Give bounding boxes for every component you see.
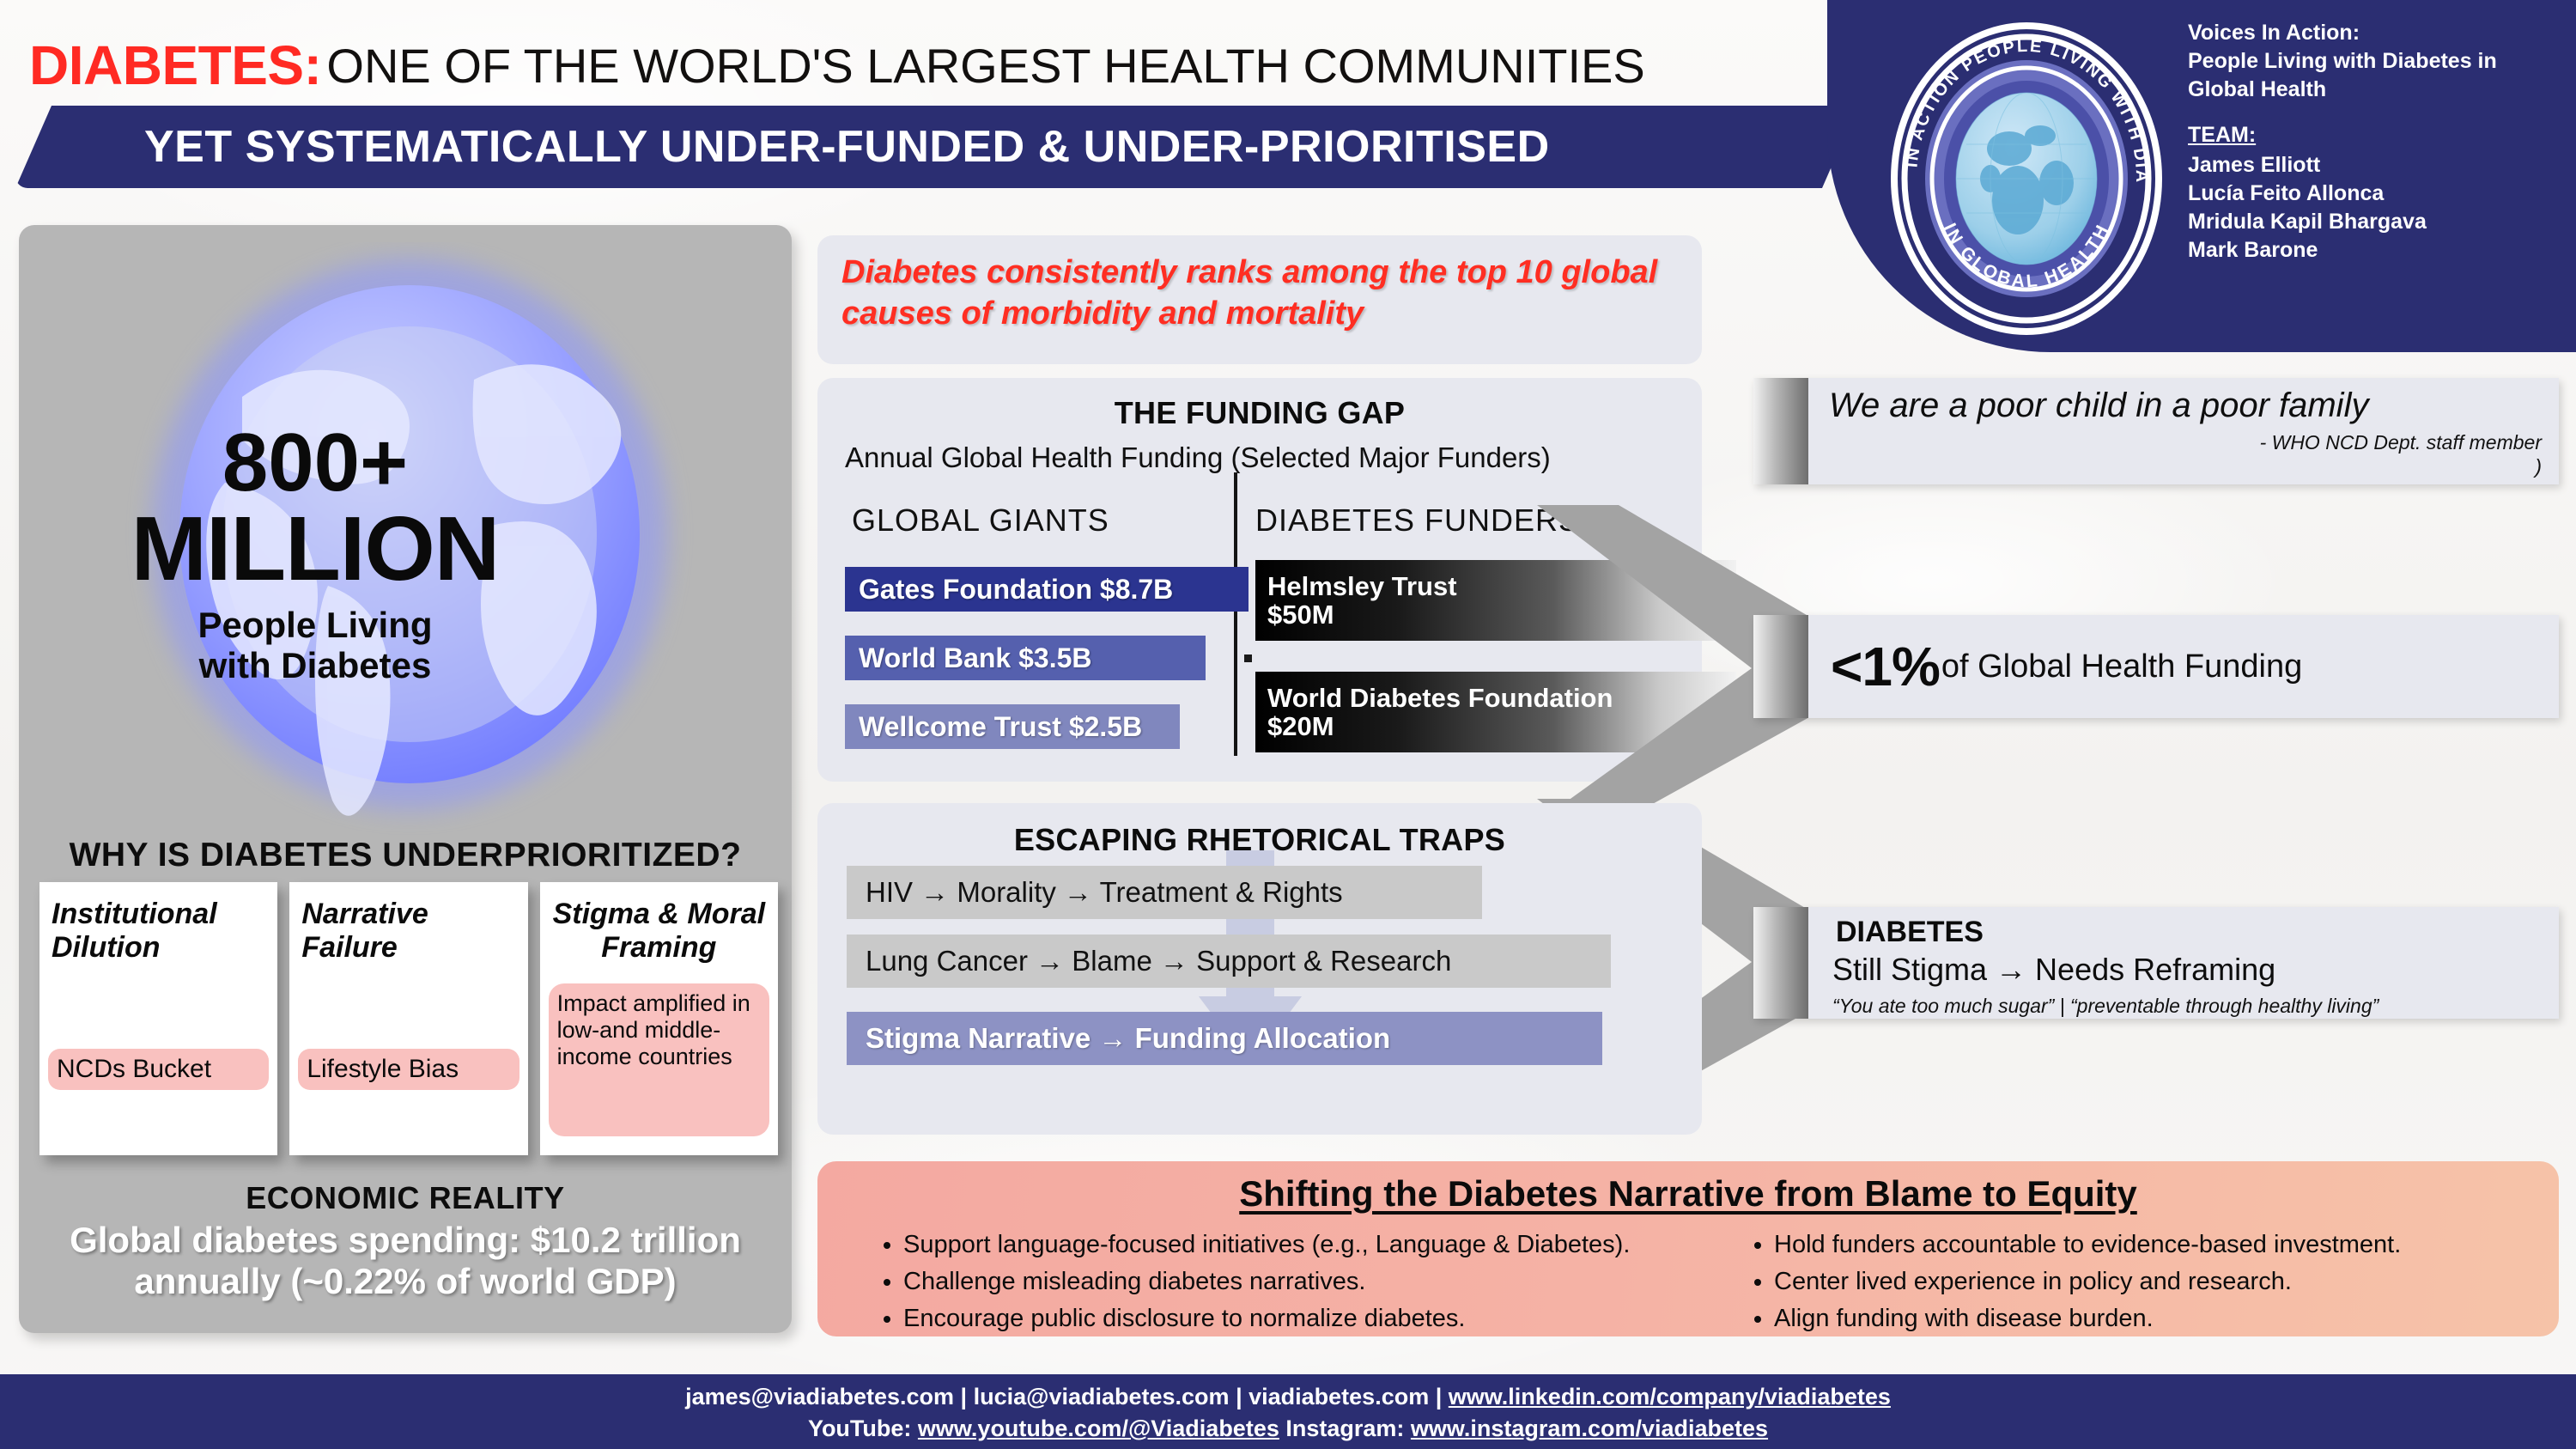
footer-sep: |: [1429, 1384, 1449, 1409]
org-line-3: Global Health: [2188, 76, 2566, 104]
why-card-institutional-dilution: Institutional Dilution NCDs Bucket: [39, 882, 277, 1155]
footer-sep: |: [954, 1384, 974, 1409]
funding-column-divider: [1234, 472, 1237, 756]
team-member: James Elliott: [2188, 151, 2566, 180]
why-card-narrative-failure: Narrative Failure Lifestyle Bias: [289, 882, 527, 1155]
organisation-seal-logo: VOICES IN ACTION PEOPLE LIVING WITH DIAB…: [1880, 7, 2172, 342]
org-line-2: People Living with Diabetes in: [2188, 47, 2566, 76]
who-quote-card: We are a poor child in a poor family - W…: [1753, 378, 2559, 484]
call-to-action-panel: Shifting the Diabetes Narrative from Bla…: [817, 1161, 2559, 1336]
why-card-title: Institutional Dilution: [52, 898, 265, 965]
trap-row-hiv: HIV → Morality → Treatment & Rights: [847, 866, 1482, 919]
economic-reality-body: Global diabetes spending: $10.2 trillion…: [36, 1220, 775, 1303]
global-giants-header: GLOBAL GIANTS: [852, 502, 1109, 539]
why-underprioritized-heading: WHY IS DIABETES UNDERPRIORITIZED?: [19, 837, 792, 874]
percentage-label: of Global Health Funding: [1941, 648, 2302, 685]
cta-right-column: Hold funders accountable to evidence-bas…: [1688, 1227, 2559, 1337]
trap-row-stigma-narrative: Stigma Narrative → Funding Allocation: [847, 1012, 1602, 1065]
funding-bar-world-bank: World Bank $3.5B: [845, 636, 1206, 680]
team-member: Mridula Kapil Bhargava: [2188, 208, 2566, 236]
ranking-note-card: Diabetes consistently ranks among the to…: [817, 235, 1702, 364]
why-card-chip: Impact amplified in low-and middle-incom…: [549, 983, 769, 1136]
percentage-card: <1% of Global Health Funding: [1753, 615, 2559, 718]
why-card-chip: NCDs Bucket: [48, 1049, 269, 1090]
diabetes-funders-header: DIABETES FUNDERS: [1255, 502, 1580, 539]
cta-bullet: Center lived experience in policy and re…: [1774, 1263, 2559, 1300]
cta-bullet: Challenge misleading diabetes narratives…: [903, 1263, 1688, 1300]
brand-text-block: Voices In Action: People Living with Dia…: [2188, 19, 2566, 265]
funding-gap-subtitle: Annual Global Health Funding (Selected M…: [845, 441, 1702, 474]
economic-reality-heading: ECONOMIC REALITY: [19, 1180, 792, 1216]
call-to-action-title: Shifting the Diabetes Narrative from Bla…: [817, 1173, 2559, 1215]
globe-illustration: [113, 242, 706, 843]
org-line-1: Voices In Action:: [2188, 19, 2566, 47]
funding-bar-name: World Diabetes Foundation: [1267, 684, 1736, 712]
why-card-chip: Lifestyle Bias: [298, 1049, 519, 1090]
diabetes-stigma-heading: DIABETES: [1836, 916, 1984, 949]
ranking-note-text: Diabetes consistently ranks among the to…: [817, 235, 1702, 334]
team-heading: TEAM:: [2188, 121, 2566, 149]
footer-sep: |: [1230, 1384, 1249, 1409]
divider-dot: [1244, 654, 1252, 662]
cta-left-column: Support language-focused initiatives (e.…: [817, 1227, 1688, 1337]
who-quote-stray-paren: ): [2535, 455, 2542, 478]
page-title: DIABETES: ONE OF THE WORLD'S LARGEST HEA…: [29, 33, 1901, 98]
team-member: Lucía Feito Allonca: [2188, 180, 2566, 208]
footer-email-james[interactable]: james@viadiabetes.com: [685, 1384, 954, 1409]
page-title-highlight: DIABETES:: [29, 33, 321, 97]
who-quote-text: We are a poor child in a poor family: [1829, 387, 2368, 425]
why-cards-group: Institutional Dilution NCDs Bucket Narra…: [39, 882, 778, 1155]
why-card-title: Narrative Failure: [301, 898, 515, 965]
stigma-accent-tab: [1753, 907, 1808, 1019]
diabetes-stigma-card: DIABETES Still Stigma → Needs Reframing …: [1753, 907, 2559, 1019]
funding-bar-value: $50M: [1267, 600, 1736, 629]
subtitle-banner: YET SYSTEMATICALLY UNDER-FUNDED & UNDER-…: [15, 106, 1858, 188]
diabetes-stigma-sub: “You ate too much sugar” | “preventable …: [1832, 995, 2379, 1018]
team-member: Mark Barone: [2188, 236, 2566, 265]
footer-email-lucia[interactable]: lucia@viadiabetes.com: [974, 1384, 1230, 1409]
why-card-title: Stigma & Moral Framing: [552, 898, 766, 965]
trap-row-lung-cancer: Lung Cancer → Blame → Support & Research: [847, 935, 1611, 988]
quote-accent-tab: [1753, 378, 1808, 484]
diabetes-stigma-main: Still Stigma → Needs Reframing: [1832, 952, 2275, 988]
why-card-stigma-moral-framing: Stigma & Moral Framing Impact amplified …: [540, 882, 778, 1155]
who-quote-attribution: - WHO NCD Dept. staff member: [2260, 431, 2542, 454]
cta-bullet: Hold funders accountable to evidence-bas…: [1774, 1227, 2559, 1263]
footer-instagram-link[interactable]: www.instagram.com/viadiabetes: [1411, 1416, 1768, 1441]
funding-gap-title: THE FUNDING GAP: [817, 395, 1702, 431]
left-stat-panel: 800+ MILLION People Living with Diabetes…: [19, 225, 792, 1333]
footer-linkedin-link[interactable]: www.linkedin.com/company/viadiabetes: [1449, 1384, 1891, 1409]
footer-youtube-link[interactable]: www.youtube.com/@Viadiabetes: [918, 1416, 1279, 1441]
percentage-value: <1%: [1831, 635, 1940, 698]
footer-instagram-label: Instagram:: [1279, 1416, 1411, 1441]
cta-bullet: Encourage public disclosure to normalize…: [903, 1300, 1688, 1337]
percentage-accent-tab: [1753, 615, 1808, 718]
footer-contact-bar: james@viadiabetes.com | lucia@viadiabete…: [0, 1374, 2576, 1449]
subtitle-banner-text: YET SYSTEMATICALLY UNDER-FUNDED & UNDER-…: [144, 121, 1550, 173]
cta-bullet: Support language-focused initiatives (e.…: [903, 1227, 1688, 1263]
funding-bar-wellcome-trust: Wellcome Trust $2.5B: [845, 704, 1180, 749]
page-title-rest: ONE OF THE WORLD'S LARGEST HEALTH COMMUN…: [326, 38, 1644, 94]
funding-bar-gates-foundation: Gates Foundation $8.7B: [845, 567, 1249, 612]
footer-website[interactable]: viadiabetes.com: [1249, 1384, 1429, 1409]
footer-youtube-label: YouTube:: [808, 1416, 918, 1441]
cta-bullet: Align funding with disease burden.: [1774, 1300, 2559, 1337]
